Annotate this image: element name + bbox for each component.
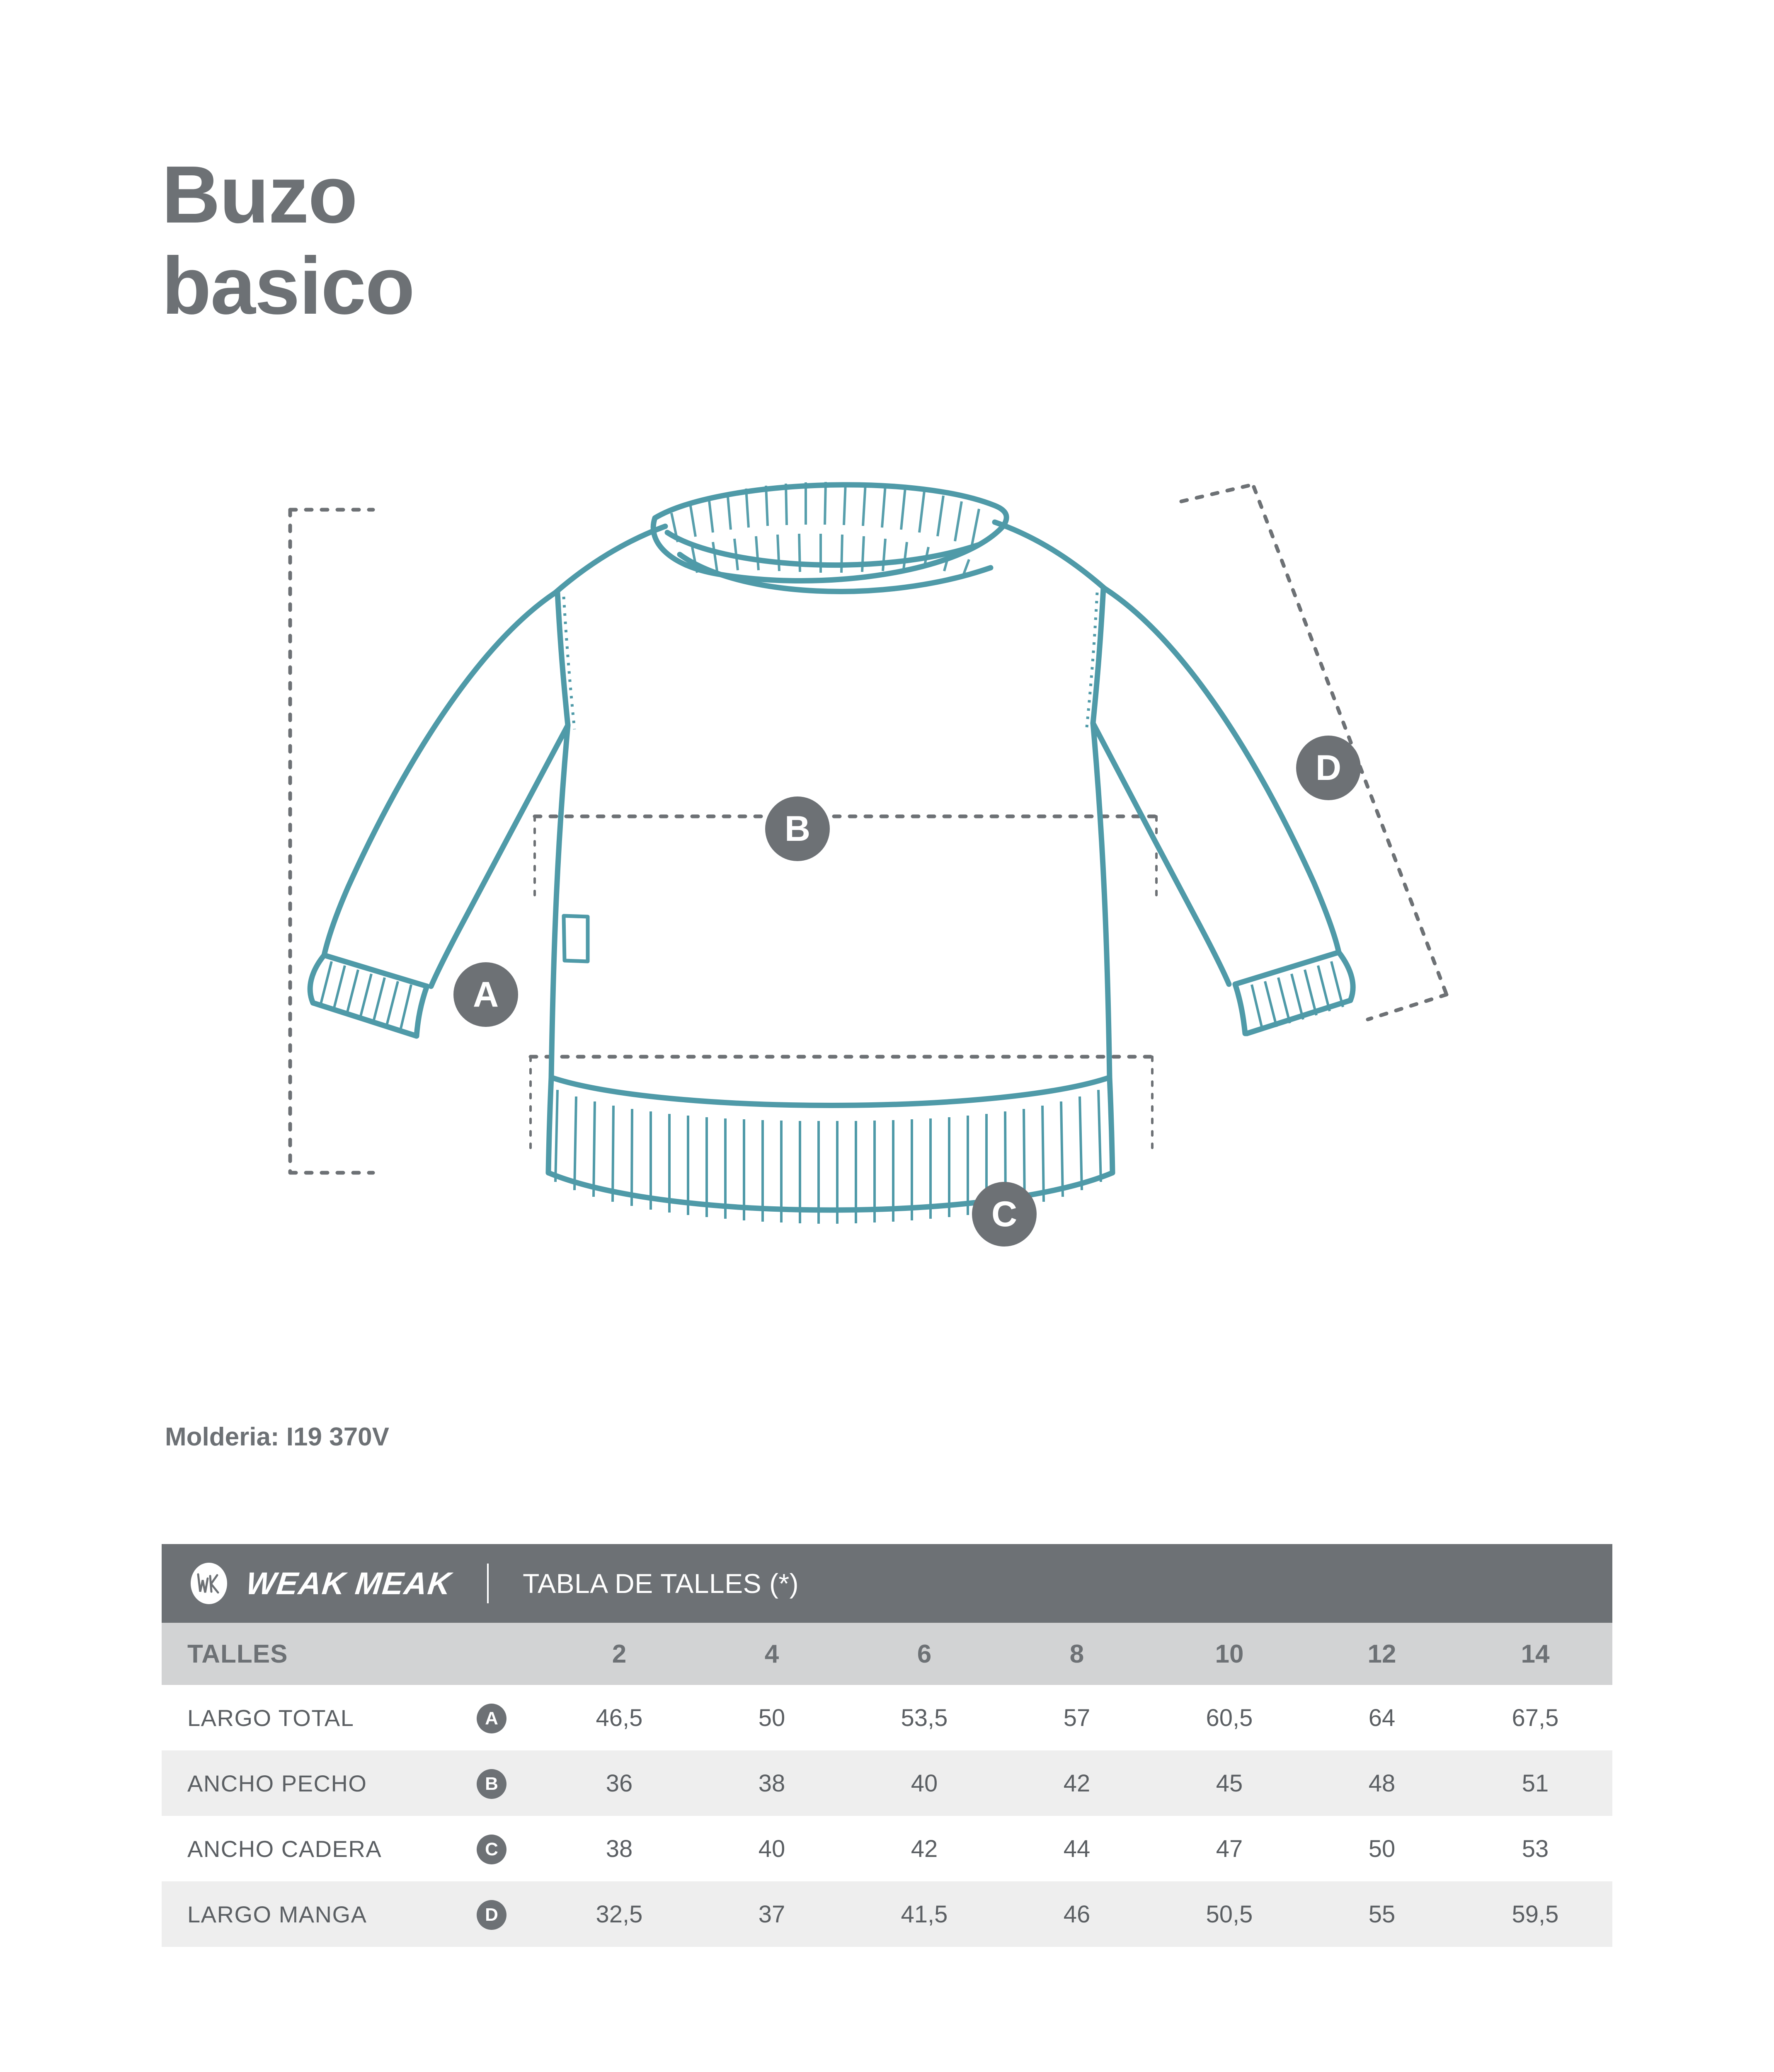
cell-largo-manga-14: 59,5 <box>1458 1881 1612 1947</box>
cell-largo-total-12: 64 <box>1306 1685 1458 1750</box>
sweatshirt-outline <box>310 485 1353 1210</box>
measure-badge-cell-c: C <box>477 1816 543 1881</box>
svg-text:B: B <box>785 809 810 849</box>
row-badge-d: D <box>477 1900 507 1930</box>
cell-ancho-cadera-8: 44 <box>1001 1816 1153 1881</box>
cell-largo-manga-6: 41,5 <box>848 1881 1001 1947</box>
svg-text:A: A <box>473 975 499 1014</box>
table-row: LARGO MANGA D 32,5 37 41,5 46 50,5 55 59… <box>162 1881 1612 1947</box>
page-title-line-2: basico <box>162 240 783 332</box>
size-header-14: 14 <box>1458 1623 1612 1685</box>
cell-ancho-pecho-14: 51 <box>1458 1750 1612 1816</box>
callout-badge-a: A <box>453 962 518 1027</box>
wmk-circle-logo-icon <box>187 1562 230 1605</box>
cell-largo-total-8: 57 <box>1001 1685 1153 1750</box>
garment-illustration: A B C D <box>249 468 1525 1388</box>
cell-largo-manga-12: 55 <box>1306 1881 1458 1947</box>
cell-largo-manga-4: 37 <box>696 1881 848 1947</box>
table-caption: TABLA DE TALLES (*) <box>523 1568 799 1599</box>
cell-ancho-pecho-4: 38 <box>696 1750 848 1816</box>
size-table: WEAK MEAK TABLA DE TALLES (*) TALLES 2 4… <box>162 1544 1612 1947</box>
callout-badge-b: B <box>765 796 830 861</box>
cell-largo-manga-2: 32,5 <box>543 1881 696 1947</box>
size-header-2: 2 <box>543 1623 696 1685</box>
cell-ancho-cadera-6: 42 <box>848 1816 1001 1881</box>
cell-ancho-pecho-12: 48 <box>1306 1750 1458 1816</box>
cell-ancho-pecho-6: 40 <box>848 1750 1001 1816</box>
sizes-row-badge-spacer <box>477 1623 543 1685</box>
table-row: ANCHO CADERA C 38 40 42 44 47 50 53 <box>162 1816 1612 1881</box>
callout-badge-d: D <box>1296 736 1361 800</box>
measure-badge-cell-b: B <box>477 1750 543 1816</box>
callout-badge-c: C <box>972 1182 1037 1247</box>
page-title: Buzo basico <box>162 149 783 331</box>
brand-header-cell: WEAK MEAK TABLA DE TALLES (*) <box>162 1544 1612 1623</box>
row-badge-a: A <box>477 1704 507 1733</box>
cell-ancho-cadera-14: 53 <box>1458 1816 1612 1881</box>
table-row: ANCHO PECHO B 36 38 40 42 45 48 51 <box>162 1750 1612 1816</box>
measure-label-largo-total: LARGO TOTAL <box>162 1685 477 1750</box>
shoulder-seam-stitching <box>564 593 1097 729</box>
size-header-4: 4 <box>696 1623 848 1685</box>
size-header-10: 10 <box>1153 1623 1306 1685</box>
cell-largo-total-6: 53,5 <box>848 1685 1001 1750</box>
molderia-label: Molderia: I19 370V <box>165 1422 389 1452</box>
measure-badge-cell-a: A <box>477 1685 543 1750</box>
brand-divider <box>487 1564 489 1603</box>
svg-text:D: D <box>1316 748 1341 788</box>
row-badge-b: B <box>477 1769 507 1799</box>
size-chart-page: Buzo basico <box>0 0 1774 2072</box>
measure-label-largo-manga: LARGO MANGA <box>162 1881 477 1947</box>
table-header-band: WEAK MEAK TABLA DE TALLES (*) <box>162 1544 1612 1623</box>
measure-badge-cell-d: D <box>477 1881 543 1947</box>
cell-largo-total-2: 46,5 <box>543 1685 696 1750</box>
size-header-12: 12 <box>1306 1623 1458 1685</box>
cell-ancho-cadera-2: 38 <box>543 1816 696 1881</box>
measure-label-ancho-cadera: ANCHO CADERA <box>162 1816 477 1881</box>
size-header-8: 8 <box>1001 1623 1153 1685</box>
cell-largo-total-4: 50 <box>696 1685 848 1750</box>
brand-name: WEAK MEAK <box>244 1566 453 1602</box>
table-sizes-row: TALLES 2 4 6 8 10 12 14 <box>162 1623 1612 1685</box>
cell-ancho-pecho-10: 45 <box>1153 1750 1306 1816</box>
row-badge-c: C <box>477 1835 507 1864</box>
measure-label-ancho-pecho: ANCHO PECHO <box>162 1750 477 1816</box>
cell-largo-manga-8: 46 <box>1001 1881 1153 1947</box>
cell-largo-manga-10: 50,5 <box>1153 1881 1306 1947</box>
cell-largo-total-10: 60,5 <box>1153 1685 1306 1750</box>
cell-ancho-cadera-10: 47 <box>1153 1816 1306 1881</box>
cell-ancho-cadera-12: 50 <box>1306 1816 1458 1881</box>
table-row: LARGO TOTAL A 46,5 50 53,5 57 60,5 64 67… <box>162 1685 1612 1750</box>
cell-ancho-pecho-8: 42 <box>1001 1750 1153 1816</box>
cell-ancho-cadera-4: 40 <box>696 1816 848 1881</box>
sizes-row-label: TALLES <box>162 1623 477 1685</box>
cell-largo-total-14: 67,5 <box>1458 1685 1612 1750</box>
page-title-line-1: Buzo <box>162 149 783 240</box>
size-header-6: 6 <box>848 1623 1001 1685</box>
svg-text:C: C <box>991 1194 1017 1234</box>
cell-ancho-pecho-2: 36 <box>543 1750 696 1816</box>
